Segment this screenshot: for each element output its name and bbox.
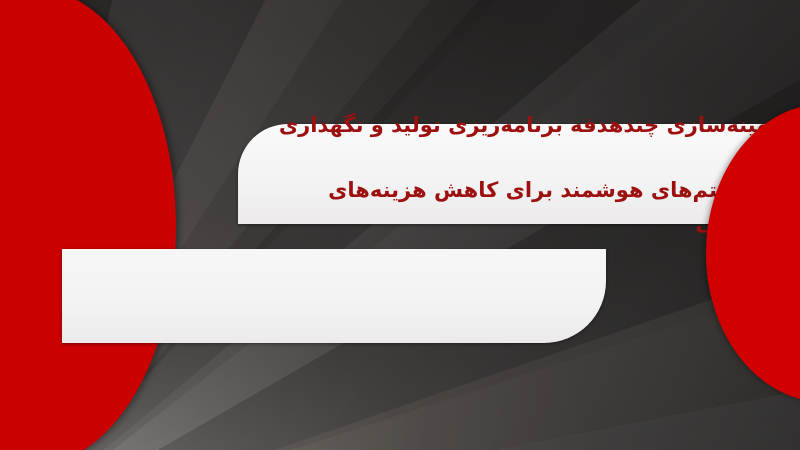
slide-subtitle-plate[interactable] <box>62 249 606 343</box>
page-title: بهینه‌سازی چندهدفه برنامه‌ریزی تولید و ن… <box>268 109 778 239</box>
presentation-slide: بهینه‌سازی چندهدفه برنامه‌ریزی تولید و ن… <box>0 0 800 450</box>
